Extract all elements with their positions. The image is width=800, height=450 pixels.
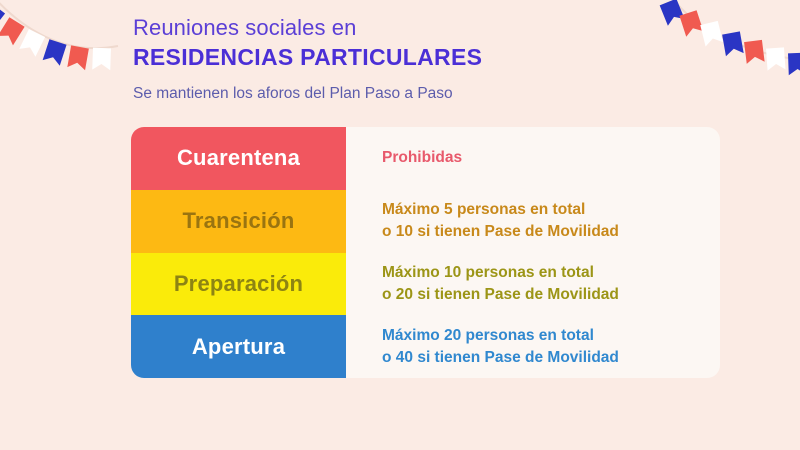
phase-band-cuarentena: Cuarentena [131, 127, 346, 190]
phase-column: CuarentenaTransiciónPreparaciónApertura [131, 127, 346, 378]
page-title-line1: Reuniones sociales en [133, 14, 653, 42]
page-title-line2: RESIDENCIAS PARTICULARES [133, 43, 653, 72]
phase-band-label: Cuarentena [177, 145, 300, 171]
rule-line: o 10 si tienen Pase de Movilidad [382, 221, 720, 243]
rule-line: Prohibidas [382, 147, 720, 169]
phase-band-label: Apertura [192, 334, 285, 360]
rule-line: o 20 si tienen Pase de Movilidad [382, 284, 720, 306]
rule-line: Máximo 20 personas en total [382, 325, 720, 347]
phase-band-label: Transición [182, 208, 294, 234]
capacity-table-card: CuarentenaTransiciónPreparaciónApertura … [131, 127, 720, 378]
rules-column: ProhibidasMáximo 5 personas en totalo 10… [346, 127, 720, 378]
rule-row-preparacion: Máximo 10 personas en totalo 20 si tiene… [382, 253, 720, 316]
rule-line: Máximo 5 personas en total [382, 199, 720, 221]
phase-band-label: Preparación [174, 271, 303, 297]
phase-band-apertura: Apertura [131, 315, 346, 378]
phase-band-preparacion: Preparación [131, 253, 346, 316]
bunting-garland-left [0, 0, 140, 95]
page-subtitle: Se mantienen los aforos del Plan Paso a … [133, 84, 653, 104]
rule-row-transicion: Máximo 5 personas en totalo 10 si tienen… [382, 190, 720, 253]
rule-row-apertura: Máximo 20 personas en totalo 40 si tiene… [382, 315, 720, 378]
rule-line: o 40 si tienen Pase de Movilidad [382, 347, 720, 369]
bunting-garland-right [646, 0, 800, 100]
phase-band-transicion: Transición [131, 190, 346, 253]
rule-line: Máximo 10 personas en total [382, 262, 720, 284]
rule-row-cuarentena: Prohibidas [382, 127, 720, 190]
page-header: Reuniones sociales en RESIDENCIAS PARTIC… [133, 14, 653, 104]
